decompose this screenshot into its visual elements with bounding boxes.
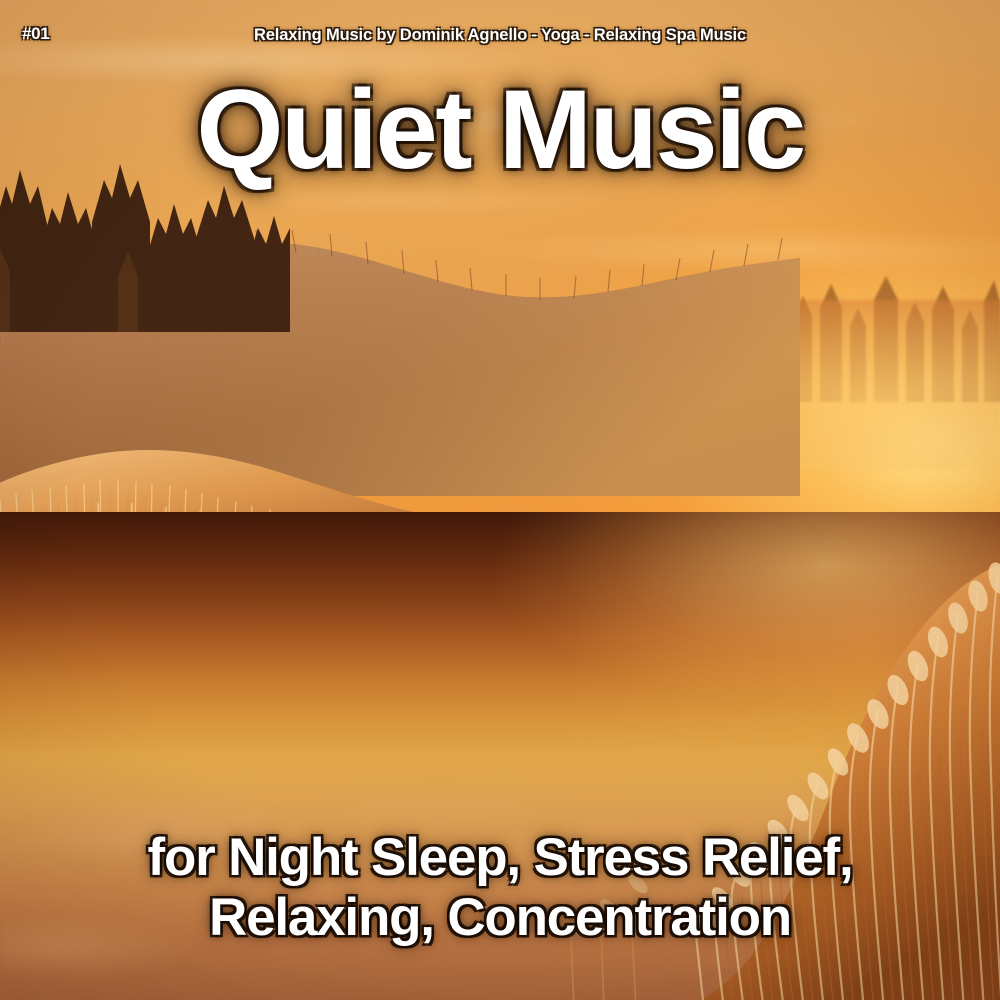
cover-text-layer: #01 Relaxing Music by Dominik Agnello - … [0,0,1000,1000]
album-title: Quiet Music [0,72,1000,188]
artist-credit: Relaxing Music by Dominik Agnello - Yoga… [0,26,1000,45]
album-cover: #01 Relaxing Music by Dominik Agnello - … [0,0,1000,1000]
album-subtitle-line-1: for Night Sleep, Stress Relief, [60,828,940,888]
album-subtitle: for Night Sleep, Stress Relief, Relaxing… [0,828,1000,949]
album-subtitle-line-2: Relaxing, Concentration [60,888,940,948]
